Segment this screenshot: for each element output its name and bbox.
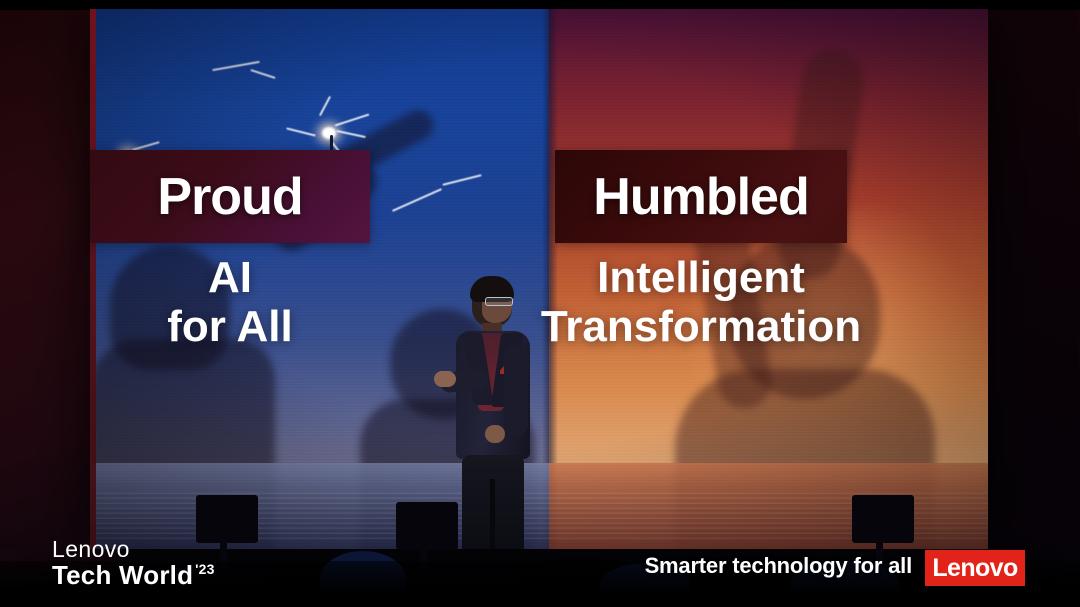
lenovo-logo-text: Lenovo (932, 554, 1017, 583)
tech-world-logo-line1: Lenovo (52, 538, 215, 561)
presenter-hand-left (434, 371, 456, 387)
lenovo-logo-badge: Lenovo (925, 550, 1025, 586)
tech-world-logo-year: '23 (195, 561, 215, 577)
tagline: Smarter technology for all (645, 553, 912, 579)
presenter-hand-right (485, 425, 505, 443)
slide-band-humbled: Humbled (555, 150, 847, 243)
slide-subtitle-right-line1: Intelligent (520, 253, 882, 302)
slide-subtitle-right-line2: Transformation (520, 302, 882, 351)
slide-subtitle-left-line1: AI (90, 253, 370, 302)
slide-subtitle-right: Intelligent Transformation (520, 253, 882, 352)
tech-world-logo: Lenovo Tech World'23 (52, 538, 215, 591)
tech-world-logo-line2: Tech World'23 (52, 561, 215, 591)
slide-subtitle-left-line2: for All (90, 302, 370, 351)
slide-title-left: Proud (157, 171, 302, 223)
slide-band-proud: Proud (90, 150, 370, 243)
keynote-screenshot: Proud Humbled AI for All Intelligent Tra… (0, 0, 1080, 607)
presenter-arm-right (504, 345, 528, 437)
presenter-leg-split (490, 479, 495, 549)
tech-world-logo-text: Tech World (52, 560, 193, 590)
slide-title-right: Humbled (593, 171, 808, 223)
glasses-icon (485, 297, 513, 306)
slide-subtitle-left: AI for All (90, 253, 370, 352)
